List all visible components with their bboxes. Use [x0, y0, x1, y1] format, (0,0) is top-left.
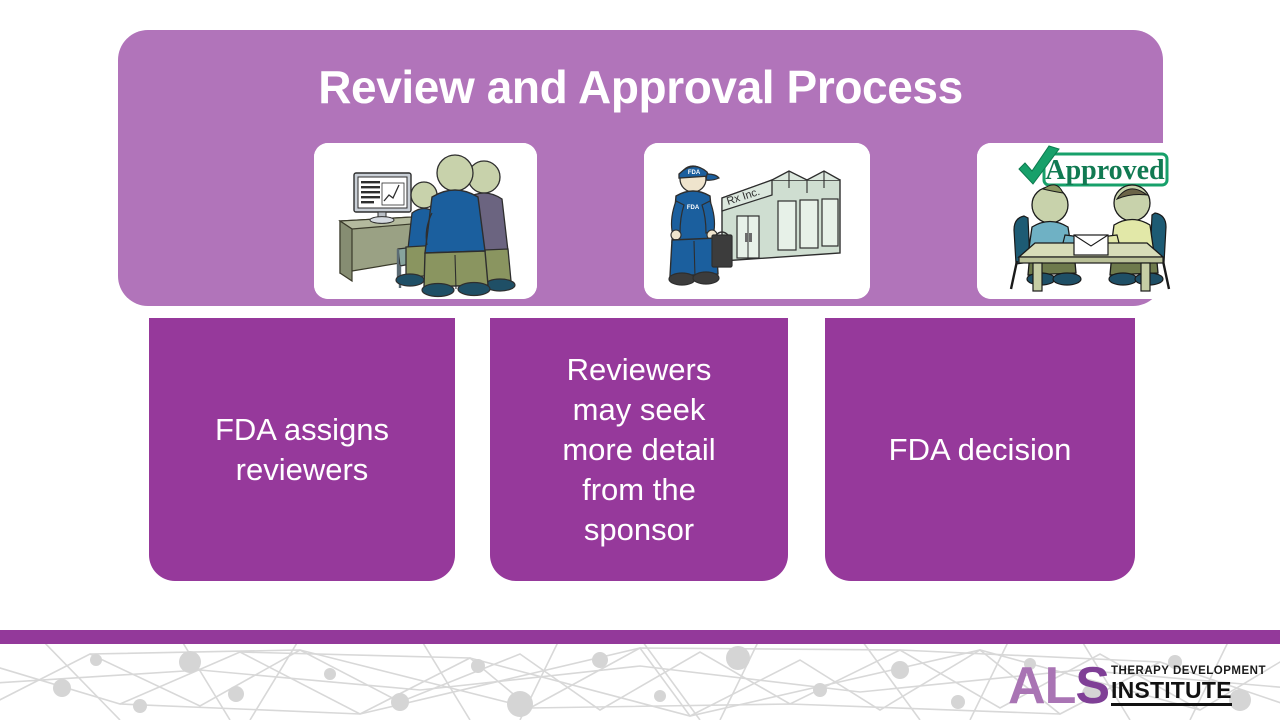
step-box-reviewers-seek-detail[interactable]: Reviewers may seek more detail from the …	[490, 318, 788, 581]
svg-text:FDA: FDA	[688, 170, 701, 176]
approved-meeting-image: Approved	[977, 143, 1205, 299]
logo-letter-s: S	[1075, 657, 1109, 715]
logo-letter-l: L	[1045, 657, 1076, 715]
svg-text:FDA: FDA	[687, 205, 700, 211]
svg-text:Approved: Approved	[1045, 155, 1165, 186]
logo-als-wordmark: ALS	[1008, 664, 1109, 708]
logo-therapy-development: THERAPY DEVELOPMENT	[1111, 666, 1266, 678]
reviewers-at-computer-image	[314, 143, 537, 299]
step-label: FDA decision	[889, 430, 1072, 470]
step-label: Reviewers may seek more detail from the …	[562, 350, 715, 550]
footer-accent-bar	[0, 630, 1280, 644]
logo-subtext: THERAPY DEVELOPMENT INSTITUTE	[1111, 666, 1266, 709]
step-label: FDA assigns reviewers	[215, 410, 389, 490]
fda-inspector-facility-image: Rx Inc. FDA FDA	[644, 143, 870, 299]
footer: ALS THERAPY DEVELOPMENT INSTITUTE	[0, 630, 1280, 720]
step-box-fda-decision[interactable]: FDA decision	[825, 318, 1135, 581]
logo-institute: INSTITUTE	[1111, 679, 1232, 706]
header-banner: Review and Approval Process	[118, 30, 1163, 306]
step-box-fda-assigns-reviewers[interactable]: FDA assigns reviewers	[149, 318, 455, 581]
slide: Review and Approval Process	[0, 0, 1280, 720]
page-title: Review and Approval Process	[118, 64, 1163, 110]
logo-letter-a: A	[1008, 657, 1045, 715]
als-tdi-logo: ALS THERAPY DEVELOPMENT INSTITUTE	[1008, 664, 1266, 708]
